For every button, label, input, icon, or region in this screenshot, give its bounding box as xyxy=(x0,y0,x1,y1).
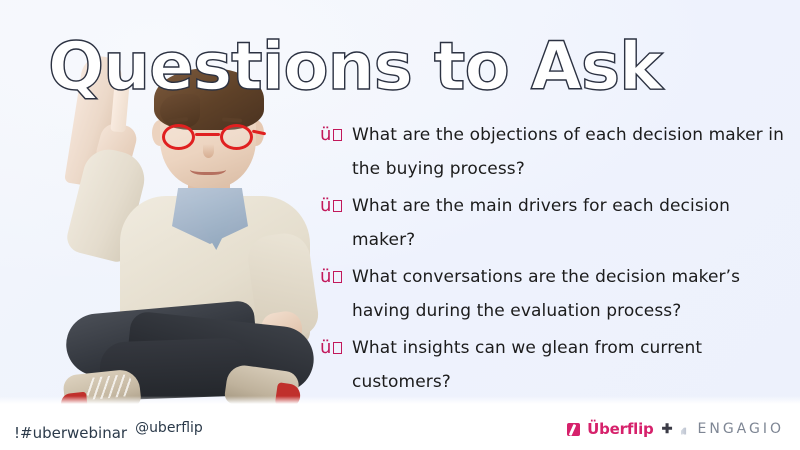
nose xyxy=(203,144,214,158)
engagio-logo-text: ENGAGIO xyxy=(698,421,785,437)
missing-glyph-box xyxy=(333,271,342,283)
smile xyxy=(190,162,226,175)
question-text: What are the objections of each decision… xyxy=(352,118,790,186)
presentation-slide: Questions to Ask ü What are the objectio… xyxy=(0,0,800,450)
list-item: ü What conversations are the decision ma… xyxy=(320,260,790,328)
glasses-bridge xyxy=(195,133,220,136)
footer-logos: Überflip ✚ ENGAGIO xyxy=(567,420,784,438)
question-text: What are the main drivers for each decis… xyxy=(352,189,790,257)
footer-social: !#uberwebinar @uberflip xyxy=(14,424,203,442)
checkmark-icon: ü xyxy=(320,189,352,223)
left-lens xyxy=(162,124,195,150)
checkmark-icon: ü xyxy=(320,260,352,294)
missing-glyph-box xyxy=(333,342,342,354)
uberflip-logo-text: Überflip xyxy=(587,420,653,438)
slide-title: Questions to Ask xyxy=(48,34,662,100)
list-item: ü What are the main drivers for each dec… xyxy=(320,189,790,257)
missing-glyph-box xyxy=(333,129,342,141)
list-item: ü What are the objections of each decisi… xyxy=(320,118,790,186)
plus-icon: ✚ xyxy=(662,421,673,437)
question-text: What conversations are the decision make… xyxy=(352,260,790,328)
missing-glyph-box xyxy=(333,200,342,212)
checkmark-icon: ü xyxy=(320,331,352,365)
glasses-temple xyxy=(252,130,266,136)
question-list: ü What are the objections of each decisi… xyxy=(320,118,790,402)
right-lens xyxy=(220,124,253,150)
webinar-hashtag: !#uberwebinar xyxy=(14,424,127,442)
engagio-logo-icon xyxy=(681,424,691,435)
list-item: ü What insights can we glean from curren… xyxy=(320,331,790,399)
checkmark-icon: ü xyxy=(320,118,352,152)
twitter-handle: @uberflip xyxy=(135,420,203,436)
uberflip-logo-icon xyxy=(567,423,580,436)
question-text: What insights can we glean from current … xyxy=(352,331,790,399)
